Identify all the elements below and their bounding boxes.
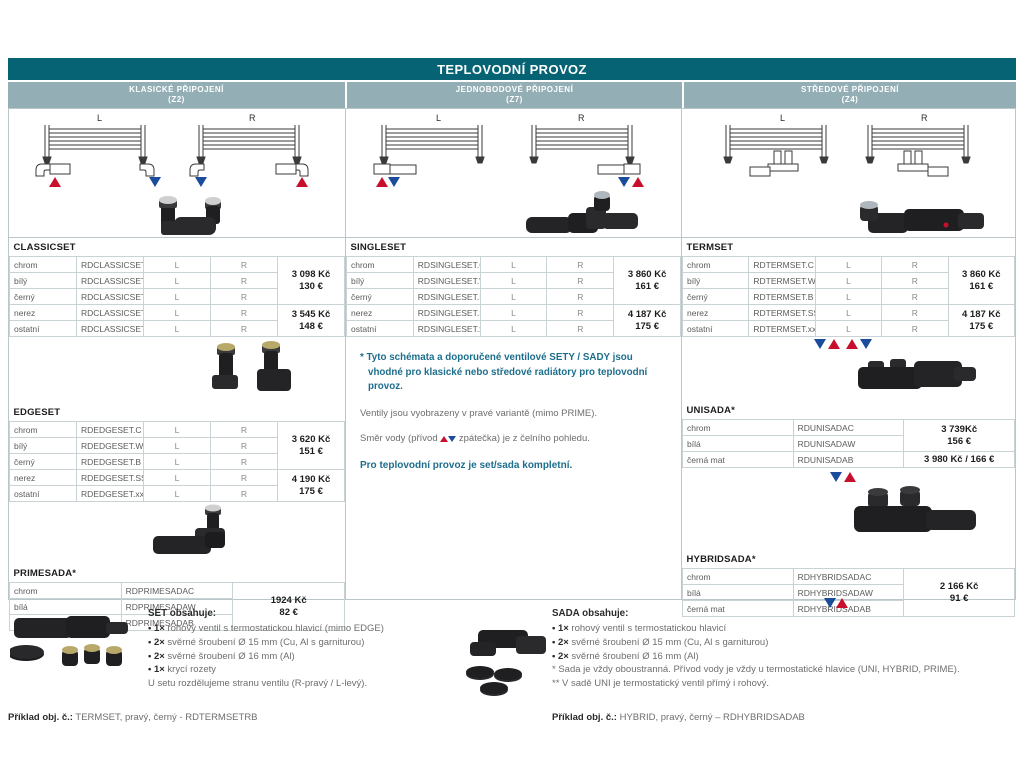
price-eur: 148 € (282, 321, 340, 333)
cell-left: L (480, 305, 547, 321)
cell-left: L (144, 486, 211, 502)
cell-right: R (211, 438, 278, 454)
cell-right: R (882, 257, 948, 273)
table-edgeset-wrap: EDGESET chrom RDEDGESET.C L R 3 620 Kč 1… (9, 403, 345, 502)
price-czk: 2 166 Kč (908, 581, 1010, 593)
arrow-supply-icon (376, 177, 388, 187)
diagram-termset: L R (682, 109, 1015, 238)
table-unisada-wrap: UNISADA* chrom RDUNISADAC 3 739Kč 156 € … (682, 401, 1015, 468)
cell-material: chrom (10, 422, 77, 438)
table-title: UNISADA* (683, 401, 1015, 420)
radiator-schematic-svg (682, 109, 1015, 237)
product-photo-classicset (159, 196, 221, 235)
cell-right: R (211, 321, 278, 337)
cell-right: R (211, 422, 278, 438)
arrow-return-icon (830, 472, 842, 482)
item-qty: • 2× (148, 637, 165, 648)
cell-material: bílá (683, 585, 794, 601)
cell-right: R (882, 273, 948, 289)
cell-code: RDEDGESET.W (77, 438, 144, 454)
column-header-code: (Z7) (506, 95, 523, 105)
item-qty: • 2× (552, 637, 569, 648)
cell-code: RDTERMSET.W (749, 273, 815, 289)
banner-title: TEPLOVODNÍ PROVOZ (437, 62, 587, 77)
cell-material: ostatní (10, 486, 77, 502)
product-photo-edgeset-svg (9, 337, 345, 403)
cell-right: R (547, 321, 614, 337)
cell-right: R (547, 273, 614, 289)
arrow-return-icon (149, 177, 161, 187)
cell-left: L (480, 257, 547, 273)
cell-material: chrom (10, 257, 77, 273)
table-termset-wrap: TERMSET chrom RDTERMSET.C L R 3 860 Kč 1… (682, 238, 1015, 337)
cell-material: bílý (10, 438, 77, 454)
table-title-row: EDGESET (10, 403, 345, 422)
cell-left: L (144, 273, 211, 289)
note-paragraph-2: Směr vody (přívod zpátečka) je z čelního… (360, 432, 667, 446)
cell-material: chrom (10, 583, 122, 599)
price-czk: 3 620 Kč (282, 434, 340, 446)
cell-material: chrom (683, 257, 749, 273)
diagram-primesada (9, 502, 345, 564)
table-singleset: SINGLESET chrom RDSINGLESET.C L R 3 860 … (346, 238, 681, 337)
table-title: CLASSICSET (10, 238, 345, 257)
cell-price-b: 3 545 Kč 148 € (278, 305, 345, 337)
cell-code: RDSINGLESET.C (413, 257, 480, 273)
price-czk: 3 739Kč (908, 424, 1010, 436)
cell-code: RDPRIMESADAC (121, 583, 233, 599)
note-p2-suffix: zpátečka) je z čelního pohledu. (456, 433, 590, 444)
arrow-supply-icon (49, 177, 61, 187)
list-item: • 2× svěrné šroubení Ø 15 mm (Cu, Al s g… (552, 636, 1018, 650)
cell-left: L (815, 305, 881, 321)
table-title-row: TERMSET (683, 238, 1015, 257)
item-qty: • 2× (552, 651, 569, 662)
cell-right: R (547, 289, 614, 305)
footer-photo-sada-svg (460, 628, 556, 702)
column-header-label: STŘEDOVÉ PŘIPOJENÍ (801, 85, 899, 95)
cell-code: RDEDGESET.C (77, 422, 144, 438)
cell-material: nerez (683, 305, 749, 321)
cell-code: RDSINGLESET.SS (413, 305, 480, 321)
price-sheet-page: TEPLOVODNÍ PROVOZ KLASICKÉ PŘIPOJENÍ (Z2… (0, 0, 1024, 768)
cell-code: RDUNISADAW (793, 436, 904, 452)
product-photo-primesada-svg (9, 502, 345, 564)
cell-material: ostatní (347, 321, 414, 337)
arrow-return-icon (388, 177, 400, 187)
cell-right: R (882, 289, 948, 305)
table-unisada: UNISADA* chrom RDUNISADAC 3 739Kč 156 € … (682, 401, 1015, 468)
arrow-supply-icon (296, 177, 308, 187)
cell-right: R (547, 257, 614, 273)
cell-code: RDCLASSICSET.W (77, 273, 144, 289)
cell-right: R (547, 305, 614, 321)
item-qty: • 1× (148, 623, 165, 634)
footer-sada-example: Příklad obj. č.: HYBRID, pravý, černý – … (552, 712, 1018, 723)
cell-material: bílý (683, 273, 749, 289)
column-header-stredove: STŘEDOVÉ PŘIPOJENÍ (Z4) (684, 82, 1016, 108)
example-label: Příklad obj. č.: (8, 712, 73, 723)
diagram-edgeset (9, 337, 345, 403)
cell-code: RDCLASSICSET.C (77, 257, 144, 273)
table-title: SINGLESET (347, 238, 681, 257)
note-paragraph-1: Ventily jsou vyobrazeny v pravé variantě… (360, 407, 667, 421)
cell-material: černý (347, 289, 414, 305)
cell-right: R (211, 273, 278, 289)
table-classicset-wrap: CLASSICSET chrom RDCLASSICSET.C L R 3 09… (9, 238, 345, 337)
table-title-row: CLASSICSET (10, 238, 345, 257)
price-eur: 91 € (908, 593, 1010, 605)
cell-material: bílá (683, 436, 794, 452)
product-photo-edgeset (212, 341, 291, 391)
column-stredove-pripojeni: L R (682, 108, 1016, 600)
price-czk: 4 187 Kč (953, 309, 1010, 321)
item-text: rohový ventil s termostatickou hlavicí (569, 623, 726, 634)
cell-right: R (882, 321, 948, 337)
table-title: PRIMESADA* (10, 564, 345, 583)
table-title-row: SINGLESET (347, 238, 681, 257)
cell-code: RDHYBRIDSADAC (793, 569, 904, 585)
table-row: nerez RDTERMSET.SS L R 4 187 Kč 175 € (683, 305, 1015, 321)
banner-teplovodni-provoz: TEPLOVODNÍ PROVOZ (8, 58, 1016, 80)
product-photo-sada (466, 630, 546, 696)
column-klasicke-pripojeni: L R (8, 108, 345, 600)
cell-material: nerez (347, 305, 414, 321)
cell-left: L (144, 305, 211, 321)
example-label: Příklad obj. č.: (552, 712, 617, 723)
cell-code: RDEDGESET.xx (77, 486, 144, 502)
diagram-classicset: L R (9, 109, 345, 238)
arrow-supply-icon (632, 177, 644, 187)
cell-price-b: 4 187 Kč 175 € (614, 305, 681, 337)
cell-code: RDTERMSET.C (749, 257, 815, 273)
column-header-label: KLASICKÉ PŘIPOJENÍ (129, 85, 224, 95)
table-classicset: CLASSICSET chrom RDCLASSICSET.C L R 3 09… (9, 238, 345, 337)
table-row: chrom RDPRIMESADAC 1924 Kč 82 € (10, 583, 345, 599)
price-eur: 175 € (953, 321, 1010, 333)
note-final: Pro teplovodní provoz je set/sada komple… (360, 458, 667, 473)
table-row: nerez RDSINGLESET.SS L R 4 187 Kč 175 € (347, 305, 681, 321)
price-czk: 3 098 Kč (282, 269, 340, 281)
footer-photo-set-svg (10, 614, 140, 694)
cell-code: RDSINGLESET.W (413, 273, 480, 289)
diagram-unisada (682, 337, 1015, 401)
table-row: chrom RDSINGLESET.C L R 3 860 Kč 161 € (347, 257, 681, 273)
table-row: chrom RDEDGESET.C L R 3 620 Kč 151 € (10, 422, 345, 438)
cell-code: RDCLASSICSET.xx (77, 321, 144, 337)
example-value: TERMSET, pravý, černý - RDTERMSETRB (73, 712, 258, 723)
cell-right: R (211, 454, 278, 470)
column-header-label: JEDNOBODOVÉ PŘIPOJENÍ (456, 85, 574, 95)
cell-material: chrom (683, 420, 794, 436)
footer-set-example: Příklad obj. č.: TERMSET, pravý, černý -… (8, 712, 548, 723)
cell-price: 3 739Kč 156 € (904, 420, 1015, 452)
cell-price-a: 3 098 Kč 130 € (278, 257, 345, 305)
cell-right: R (882, 305, 948, 321)
table-title-row: PRIMESADA* (10, 564, 345, 583)
list-item: • 2× svěrné šroubení Ø 16 mm (Al) (552, 650, 1018, 664)
list-item: • 1× rohový ventil s termostatickou hlav… (552, 622, 1018, 636)
cell-right: R (211, 305, 278, 321)
cell-code: RDTERMSET.xx (749, 321, 815, 337)
cell-left: L (480, 321, 547, 337)
price-eur: 156 € (908, 436, 1010, 448)
cell-right: R (211, 289, 278, 305)
cell-code: RDUNISADAB (793, 452, 904, 468)
product-photo-unisada-svg (682, 337, 1015, 401)
arrow-supply-icon (440, 436, 448, 442)
example-value: HYBRID, pravý, černý – RDHYBRIDSADAB (617, 712, 805, 723)
cell-left: L (480, 289, 547, 305)
item-qty: • 1× (148, 664, 165, 675)
cell-material: bílý (347, 273, 414, 289)
item-qty: • 2× (148, 651, 165, 662)
table-title: EDGESET (10, 403, 345, 422)
table-row: chrom RDUNISADAC 3 739Kč 156 € (683, 420, 1015, 436)
price-eur: 175 € (618, 321, 676, 333)
arrow-return-icon (860, 339, 872, 349)
arrow-return-icon (814, 339, 826, 349)
price-eur: 130 € (282, 281, 340, 293)
table-row: nerez RDCLASSICSET.SS L R 3 545 Kč 148 € (10, 305, 345, 321)
table-row: černá mat RDUNISADAB 3 980 Kč / 166 € (683, 452, 1015, 468)
price-eur: 151 € (282, 446, 340, 458)
cell-material: nerez (10, 305, 77, 321)
column-header-code: (Z4) (842, 95, 859, 105)
cell-code: RDTERMSET.SS (749, 305, 815, 321)
cell-code: RDCLASSICSET.SS (77, 305, 144, 321)
cell-left: L (815, 321, 881, 337)
item-text: krycí rozety (165, 664, 216, 675)
cell-material: ostatní (683, 321, 749, 337)
table-title: HYBRIDSADA* (683, 550, 1015, 569)
cell-material: bílý (10, 273, 77, 289)
arrow-supply-icon (846, 339, 858, 349)
radiator-schematic-svg (346, 109, 681, 237)
cell-left: L (144, 289, 211, 305)
cell-code: RDUNISADAC (793, 420, 904, 436)
price-eur: 161 € (953, 281, 1010, 293)
price-czk: 4 190 Kč (282, 474, 340, 486)
cell-left: L (815, 257, 881, 273)
footer-sada-note-2: ** V sadě UNI je termostatický ventil př… (552, 677, 1018, 691)
note-star: * Tyto schémata a doporučené ventilové S… (360, 351, 667, 395)
cell-left: L (144, 438, 211, 454)
cell-left: L (480, 273, 547, 289)
column-header-klasicke: KLASICKÉ PŘIPOJENÍ (Z2) (8, 82, 345, 108)
item-qty: • 1× (552, 623, 569, 634)
price-czk: 3 860 Kč (618, 269, 676, 281)
arrow-supply-icon (828, 339, 840, 349)
diagram-singleset: L R (346, 109, 681, 238)
table-row: chrom RDHYBRIDSADAC 2 166 Kč 91 € (683, 569, 1015, 585)
product-photo-set (10, 616, 128, 666)
column-header-code: (Z2) (168, 95, 185, 105)
table-row: nerez RDEDGESET.SS L R 4 190 Kč 175 € (10, 470, 345, 486)
arrow-return-icon (195, 177, 207, 187)
item-text: svěrné šroubení Ø 16 mm (Al) (569, 651, 699, 662)
cell-material: ostatní (10, 321, 77, 337)
arrow-supply-icon (836, 598, 848, 608)
table-title-row: UNISADA* (683, 401, 1015, 420)
cell-left: L (815, 273, 881, 289)
cell-code: RDEDGESET.SS (77, 470, 144, 486)
main-grid: L R (8, 108, 1016, 600)
product-photo-unisada (858, 359, 976, 389)
item-text: rohový ventil s termostatickou hlavicí (… (165, 623, 384, 634)
cell-price-b: 4 190 Kč 175 € (278, 470, 345, 502)
product-photo-termset (860, 201, 984, 233)
cell-code: RDEDGESET.B (77, 454, 144, 470)
cell-right: R (211, 470, 278, 486)
footer-set-title: SET obsahuje: (148, 608, 548, 619)
column-header-jednobodove: JEDNOBODOVÉ PŘIPOJENÍ (Z7) (347, 82, 682, 108)
product-photo-singleset (526, 191, 638, 233)
cell-code: RDTERMSET.B (749, 289, 815, 305)
cell-price-a: 3 860 Kč 161 € (948, 257, 1014, 305)
arrow-return-icon (824, 598, 836, 608)
footer-sada-title: SADA obsahuje: (552, 608, 1018, 619)
arrow-return-icon (618, 177, 630, 187)
cell-left: L (144, 454, 211, 470)
cell-price-a: 3 860 Kč 161 € (614, 257, 681, 305)
cell-left: L (144, 422, 211, 438)
note-block: * Tyto schémata a doporučené ventilové S… (346, 337, 681, 481)
cell-left: L (815, 289, 881, 305)
cell-material: černý (10, 454, 77, 470)
cell-left: L (144, 470, 211, 486)
cell-left: L (144, 321, 211, 337)
price-czk: 4 187 Kč (618, 309, 676, 321)
cell-code: RDCLASSICSET.B (77, 289, 144, 305)
cell-price-b: 4 187 Kč 175 € (948, 305, 1014, 337)
diagram-hybridsada (682, 468, 1015, 550)
cell-material: chrom (683, 569, 794, 585)
cell-left: L (144, 257, 211, 273)
product-photo-hybridsada-svg (682, 468, 1015, 550)
product-photo-primesada (153, 505, 225, 555)
table-title: TERMSET (683, 238, 1015, 257)
price-eur: 161 € (618, 281, 676, 293)
item-text: svěrné šroubení Ø 15 mm (Cu, Al s garnit… (569, 637, 769, 648)
cell-right: R (211, 486, 278, 502)
price-czk: 3 545 Kč (282, 309, 340, 321)
cell-price-a: 3 620 Kč 151 € (278, 422, 345, 470)
cell-material: černý (10, 289, 77, 305)
column-headers: KLASICKÉ PŘIPOJENÍ (Z2) JEDNOBODOVÉ PŘIP… (8, 82, 1016, 108)
footer: SET obsahuje: • 1× rohový ventil s termo… (0, 604, 1024, 768)
table-termset: TERMSET chrom RDTERMSET.C L R 3 860 Kč 1… (682, 238, 1015, 337)
table-row: chrom RDTERMSET.C L R 3 860 Kč 161 € (683, 257, 1015, 273)
table-singleset-wrap: SINGLESET chrom RDSINGLESET.C L R 3 860 … (346, 238, 681, 337)
table-title-row: HYBRIDSADA* (683, 550, 1015, 569)
product-photo-hybridsada (854, 486, 976, 532)
cell-material: chrom (347, 257, 414, 273)
footer-sada-note-1: * Sada je vždy oboustranná. Přívod vody … (552, 663, 1018, 677)
price-czk: 3 860 Kč (953, 269, 1010, 281)
table-row: chrom RDCLASSICSET.C L R 3 098 Kč 130 € (10, 257, 345, 273)
price-eur: 175 € (282, 486, 340, 498)
note-p2-prefix: Směr vody (přívod (360, 433, 440, 444)
radiator-schematic-svg (9, 109, 345, 237)
cell-right: R (211, 257, 278, 273)
arrow-supply-icon (844, 472, 856, 482)
table-edgeset: EDGESET chrom RDEDGESET.C L R 3 620 Kč 1… (9, 403, 345, 502)
cell-material: černá mat (683, 452, 794, 468)
cell-code: RDSINGLESET.xx (413, 321, 480, 337)
cell-price-black: 3 980 Kč / 166 € (904, 452, 1015, 468)
cell-code: RDSINGLESET.B (413, 289, 480, 305)
item-text: svěrné šroubení Ø 16 mm (Al) (165, 651, 295, 662)
column-jednobodove-pripojeni: L R (345, 108, 682, 600)
cell-material: černý (683, 289, 749, 305)
cell-material: nerez (10, 470, 77, 486)
item-text: svěrné šroubení Ø 15 mm (Cu, Al s garnit… (165, 637, 365, 648)
footer-sada-text: SADA obsahuje: • 1× rohový ventil s term… (552, 608, 1018, 691)
